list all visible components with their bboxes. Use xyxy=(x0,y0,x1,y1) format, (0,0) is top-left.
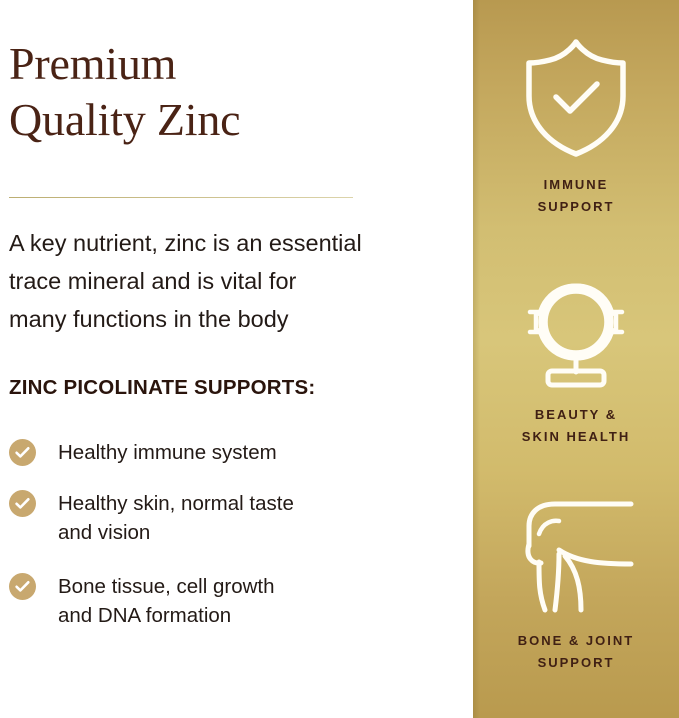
check-circle-icon xyxy=(9,439,36,466)
check-circle-icon xyxy=(9,490,36,517)
feature-immune-support: IMMUNE SUPPORT xyxy=(473,34,679,218)
list-item-label: Bone tissue, cell growth and DNA formati… xyxy=(58,571,275,630)
feature-label: IMMUNE SUPPORT xyxy=(473,174,679,218)
list-item-label: Healthy skin, normal taste and vision xyxy=(58,488,294,547)
title-divider xyxy=(9,197,353,198)
benefit-list: Healthy immune system Healthy skin, norm… xyxy=(9,437,449,651)
list-item: Healthy skin, normal taste and vision xyxy=(9,488,449,547)
feature-bone-joint-support: BONE & JOINT SUPPORT xyxy=(473,496,679,674)
check-circle-icon xyxy=(9,573,36,600)
shield-check-icon xyxy=(520,34,632,160)
benefits-gold-panel: IMMUNE SUPPORT BEAUTY & SKIN HEALTH xyxy=(473,0,679,718)
page-title: Premium Quality Zinc xyxy=(9,36,449,148)
feature-label: BONE & JOINT SUPPORT xyxy=(473,630,679,674)
left-content-panel: Premium Quality Zinc A key nutrient, zin… xyxy=(0,0,473,718)
list-item: Bone tissue, cell growth and DNA formati… xyxy=(9,571,449,630)
intro-paragraph: A key nutrient, zinc is an essential tra… xyxy=(9,224,449,338)
list-item: Healthy immune system xyxy=(9,437,449,467)
feature-beauty-skin-health: BEAUTY & SKIN HEALTH xyxy=(473,268,679,448)
product-infographic: Premium Quality Zinc A key nutrient, zin… xyxy=(0,0,679,718)
feature-label: BEAUTY & SKIN HEALTH xyxy=(473,404,679,448)
list-item-label: Healthy immune system xyxy=(58,437,277,467)
vanity-mirror-icon xyxy=(514,268,638,390)
supports-heading: ZINC PICOLINATE SUPPORTS: xyxy=(9,375,315,401)
knee-joint-icon xyxy=(515,496,637,616)
